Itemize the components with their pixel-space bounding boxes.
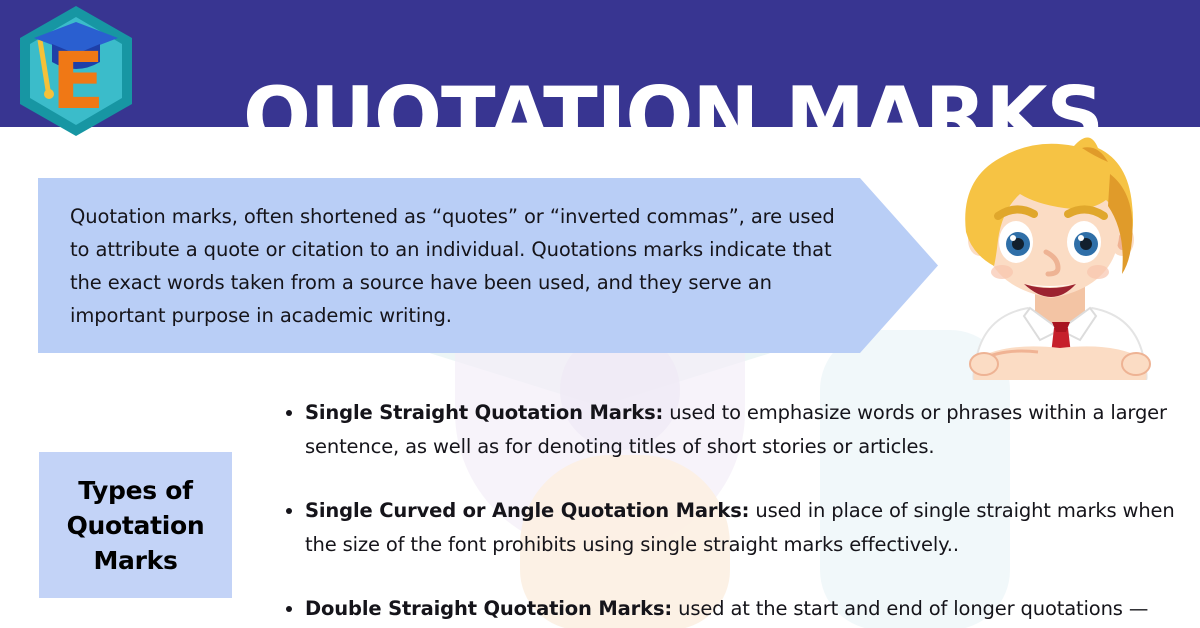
- site-logo[interactable]: E: [14, 4, 138, 138]
- boy-eye-glint-right: [1078, 235, 1084, 241]
- boy-eye-glint-left: [1010, 235, 1016, 241]
- cartoon-schoolboy-illustration: [932, 132, 1188, 380]
- boy-arms-crossed: [974, 346, 1147, 380]
- list-item: Double Straight Quotation Marks: used at…: [283, 592, 1183, 628]
- list-item-term: Double Straight Quotation Marks:: [305, 597, 672, 620]
- intro-text: Quotation marks, often shortened as “quo…: [70, 200, 840, 332]
- boy-hand-left: [970, 353, 998, 375]
- list-item-term: Single Curved or Angle Quotation Marks:: [305, 499, 749, 522]
- list-item: Single Curved or Angle Quotation Marks: …: [283, 494, 1183, 562]
- infographic-page: QUOTATION MARKS E Quotation marks, often…: [0, 0, 1200, 628]
- bullet-icon: [286, 508, 292, 514]
- list-item: Single Straight Quotation Marks: used to…: [283, 396, 1183, 464]
- intro-callout-box: Quotation marks, often shortened as “quo…: [38, 178, 938, 353]
- boy-cheek-right: [1087, 265, 1109, 279]
- logo-letter-e: E: [51, 37, 104, 127]
- types-label-box: Types ofQuotationMarks: [39, 452, 232, 598]
- list-item-term: Single Straight Quotation Marks:: [305, 401, 663, 424]
- boy-cheek-left: [991, 265, 1013, 279]
- types-list: Single Straight Quotation Marks: used to…: [283, 396, 1183, 628]
- bullet-icon: [286, 606, 292, 612]
- bullet-icon: [286, 410, 292, 416]
- types-label-text: Types ofQuotationMarks: [67, 473, 205, 578]
- boy-hand-right: [1122, 353, 1150, 375]
